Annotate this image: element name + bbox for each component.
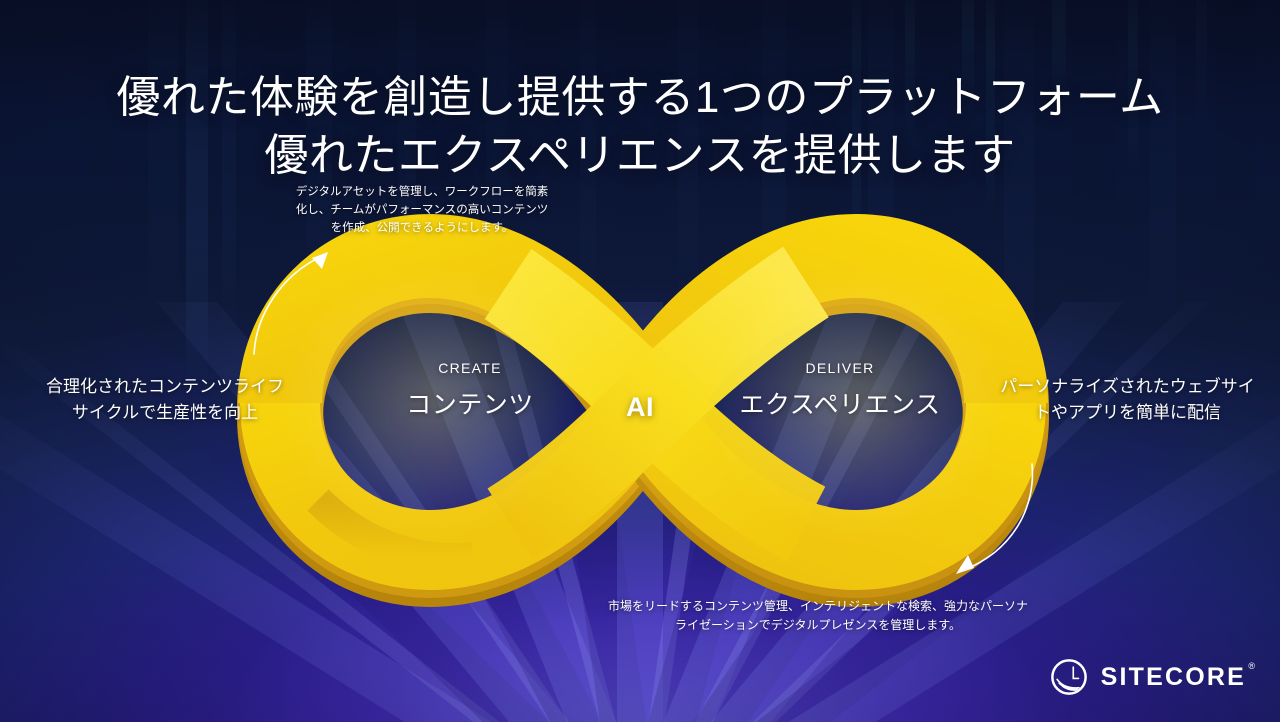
title-line-2: 優れたエクスペリエンスを提供します: [0, 127, 1280, 184]
create-label: コンテンツ: [345, 385, 595, 421]
center-label-ai: AI: [585, 392, 695, 423]
title-line-1: 優れた体験を創造し提供する1つのプラットフォーム: [0, 69, 1280, 126]
curved-arrow-up-right-icon: [250, 236, 360, 356]
trademark-symbol: ®: [1248, 661, 1255, 671]
deliver-eyebrow: DELIVER: [690, 360, 990, 376]
sitecore-logo: SITECORE ®: [1050, 658, 1246, 696]
annotation-right: パーソナライズされたウェブサイトやアプリを簡単に配信: [1000, 374, 1255, 426]
loop-label-create: CREATE コンテンツ: [345, 360, 595, 421]
curved-arrow-down-left-icon: [928, 458, 1048, 583]
sitecore-mark-icon: [1050, 658, 1088, 696]
create-eyebrow: CREATE: [345, 360, 595, 376]
sitecore-wordmark: SITECORE ®: [1101, 663, 1246, 692]
page-title: 優れた体験を創造し提供する1つのプラットフォーム 優れたエクスペリエンスを提供し…: [0, 69, 1280, 183]
sitecore-wordmark-text: SITECORE: [1101, 663, 1246, 691]
loop-label-deliver: DELIVER エクスペリエンス: [690, 360, 990, 421]
deliver-label: エクスペリエンス: [690, 385, 990, 421]
slide-canvas: 優れた体験を創造し提供する1つのプラットフォーム 優れたエクスペリエンスを提供し…: [0, 0, 1280, 722]
annotation-top: デジタルアセットを管理し、ワークフローを簡素化し、チームがパフォーマンスの高いコ…: [292, 184, 552, 237]
annotation-bottom: 市場をリードするコンテンツ管理、インテリジェントな検索、強力なパーソナライゼーシ…: [608, 597, 1028, 635]
annotation-left: 合理化されたコンテンツライフサイクルで生産性を向上: [40, 374, 290, 426]
